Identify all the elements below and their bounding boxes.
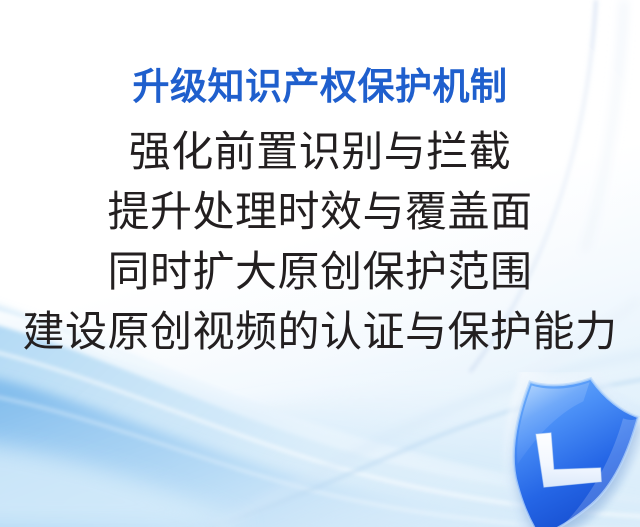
body-line-1: 强化前置识别与拦截 xyxy=(0,131,640,173)
body-line-4: 建设原创视频的认证与保护能力 xyxy=(0,311,640,353)
body-line-3: 同时扩大原创保护范围 xyxy=(0,251,640,293)
poster-canvas: 升级知识产权保护机制 强化前置识别与拦截 提升处理时效与覆盖面 同时扩大原创保护… xyxy=(0,0,640,527)
shield-svg xyxy=(468,372,640,527)
headline-title: 升级知识产权保护机制 xyxy=(0,68,640,105)
shield-check-icon xyxy=(468,372,640,527)
body-line-2: 提升处理时效与覆盖面 xyxy=(0,191,640,233)
